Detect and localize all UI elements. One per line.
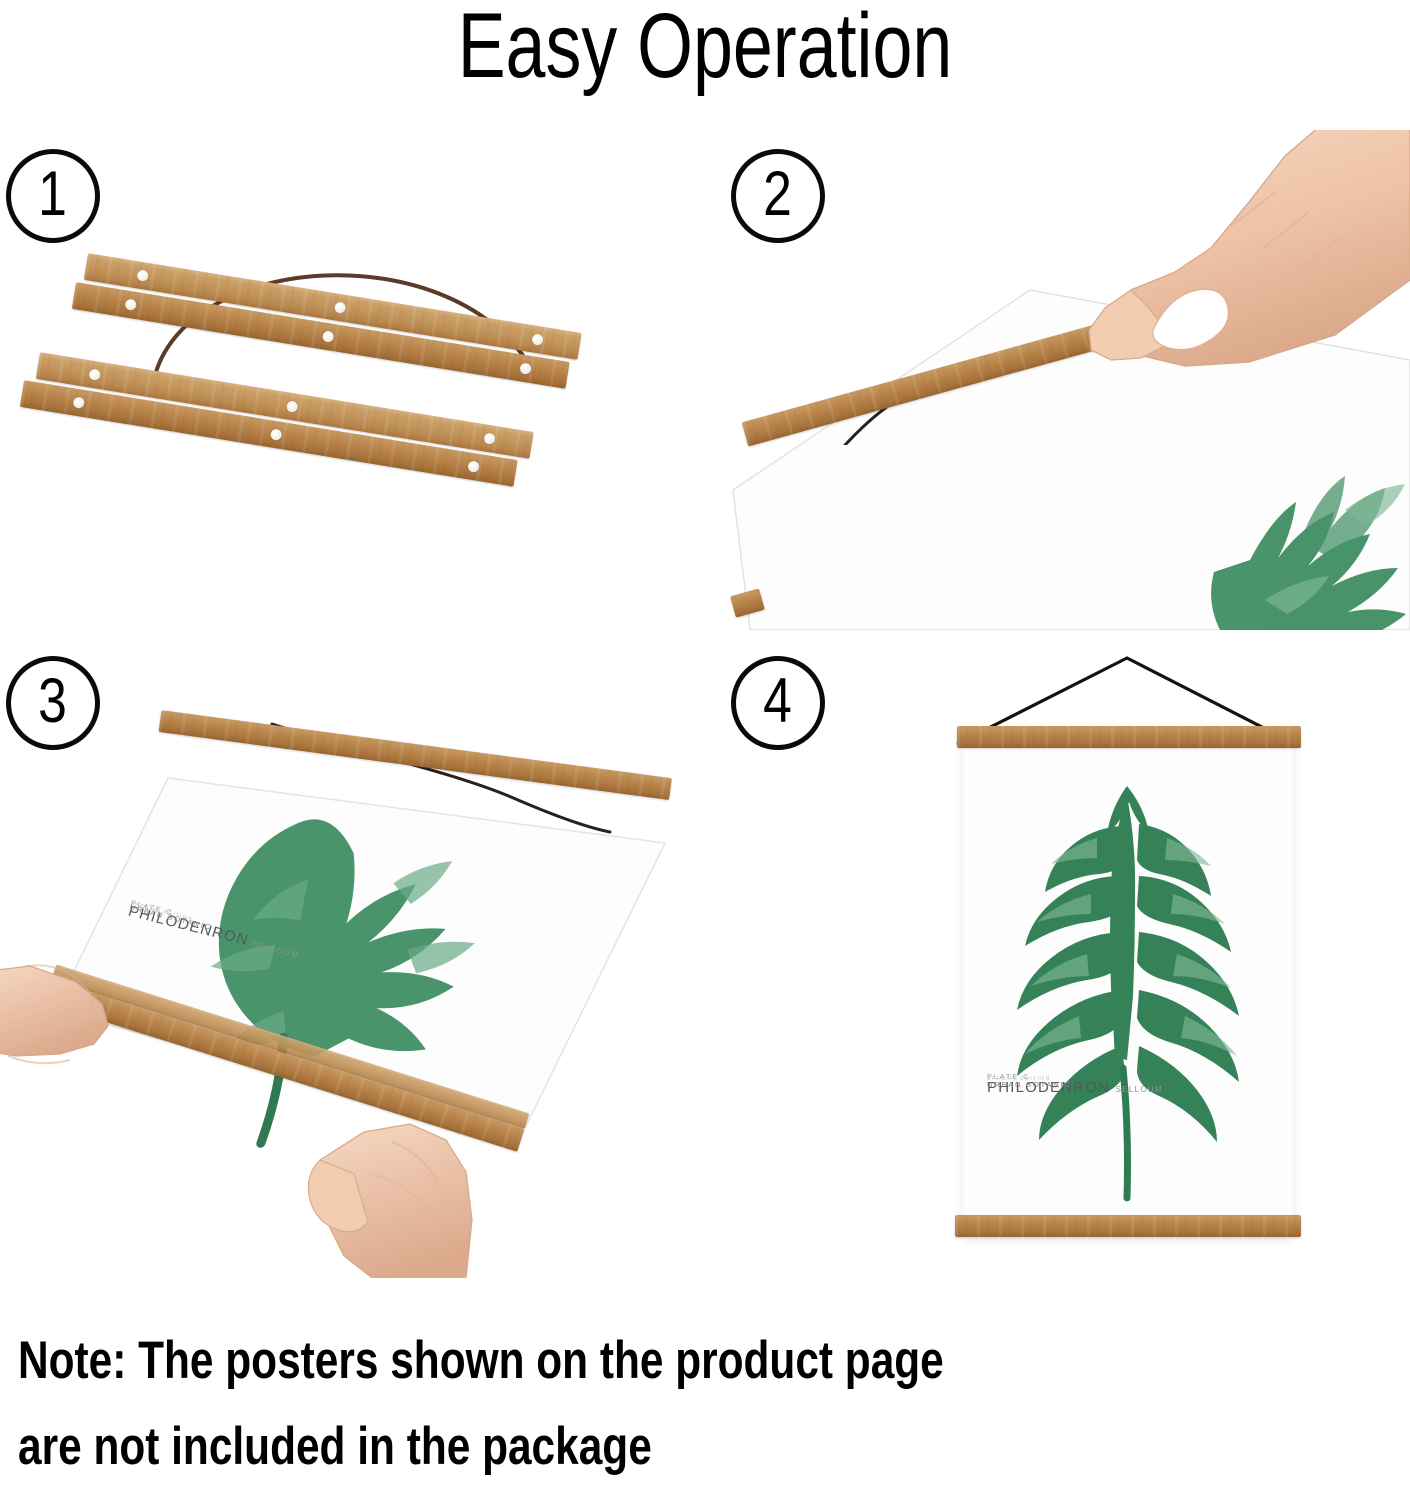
leaf-artwork <box>971 768 1285 1208</box>
magnet-dot <box>519 362 532 375</box>
wood-grain <box>957 726 1301 748</box>
step-1-illustration <box>0 130 700 630</box>
magnet-dot <box>286 400 299 413</box>
wood-grain <box>955 1215 1301 1237</box>
magnet-dot <box>270 428 283 441</box>
poster-sheet <box>0 638 700 1278</box>
step-3-number: 3 <box>39 670 68 733</box>
magnet-dot <box>136 269 149 282</box>
poster-species-variety: SELLOUM <box>1116 1085 1163 1094</box>
step-1-badge: 1 <box>6 149 100 243</box>
note-line-2: are not included in the package <box>18 1404 1130 1490</box>
disclaimer-note: Note: The posters shown on the product p… <box>18 1318 1130 1490</box>
step-3-illustration: PLATE C PHILODENRON SELLOUM URBAN BOTANI… <box>0 638 700 1278</box>
magnet-dot <box>124 298 137 311</box>
step-4-badge: 4 <box>731 656 825 750</box>
poster-edition: SPECIAL EDITION <box>987 1076 1051 1082</box>
magnet-dot <box>531 333 544 346</box>
note-line-1: Note: The posters shown on the product p… <box>18 1318 1130 1404</box>
magnet-dot <box>88 368 101 381</box>
step-1-number: 1 <box>39 163 68 226</box>
magnet-dot <box>483 432 496 445</box>
page-title: Easy Operation <box>155 0 1255 98</box>
magnet-dot <box>334 301 347 314</box>
step-3-badge: 3 <box>6 656 100 750</box>
magnet-dot <box>467 460 480 473</box>
step-2-badge: 2 <box>731 149 825 243</box>
magnet-dot <box>322 330 335 343</box>
frame-rail-bottom <box>955 1215 1301 1237</box>
step-4-number: 4 <box>764 670 793 733</box>
step-2-number: 2 <box>764 163 793 226</box>
magnet-dot <box>72 396 85 409</box>
frame-rail-top <box>957 726 1301 748</box>
